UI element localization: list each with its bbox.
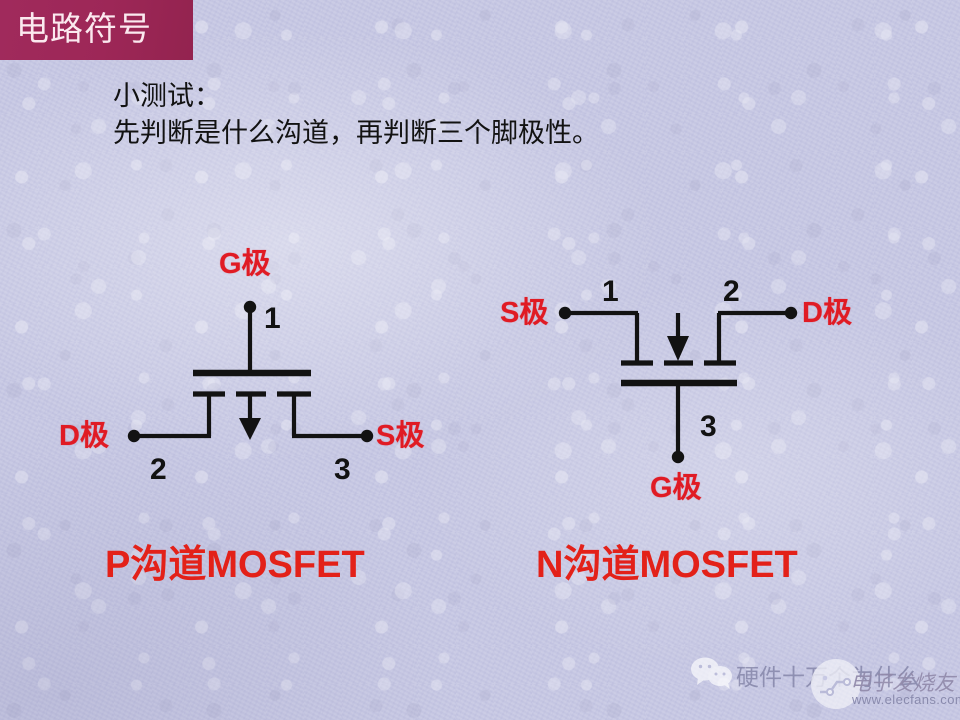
p-drain-pin-number: 2: [150, 455, 167, 485]
p-gate-node-label: G极: [219, 250, 271, 279]
circuit-symbols-layer: [0, 0, 960, 720]
wechat-icon: [690, 656, 734, 690]
n-source-pin-number: 1: [602, 277, 619, 307]
n-channel-caption: N沟道MOSFET: [536, 546, 798, 584]
n-gate-terminal-dot: [672, 451, 684, 463]
p-gate-terminal-dot: [244, 301, 256, 313]
p-source-pin-number: 3: [334, 455, 351, 485]
n-source-terminal-dot: [559, 307, 571, 319]
watermark-brand-url: www.elecfans.com: [852, 692, 960, 707]
p-drain-node-label: D极: [59, 422, 109, 451]
n-body-arrowhead: [667, 336, 689, 361]
p-gate-pin-number: 1: [264, 304, 281, 334]
n-source-node-label: S极: [500, 299, 548, 328]
n-drain-node-label: D极: [802, 299, 852, 328]
p-drain-terminal-dot: [128, 430, 140, 442]
p-body-arrowhead: [239, 418, 261, 440]
slide-canvas: 电路符号 小测试： 先判断是什么沟道，再判断三个脚极性。: [0, 0, 960, 720]
n-gate-pin-number: 3: [700, 412, 717, 442]
p-channel-mosfet-symbol: [128, 301, 373, 442]
n-drain-terminal-dot: [785, 307, 797, 319]
n-drain-pin-number: 2: [723, 277, 740, 307]
p-source-node-label: S极: [376, 422, 424, 451]
watermark: 硬件十万个为什么 电子发烧友 www.elecfans.com: [690, 650, 954, 712]
n-gate-node-label: G极: [650, 474, 702, 503]
p-source-terminal-dot: [361, 430, 373, 442]
n-channel-mosfet-symbol: [559, 307, 797, 463]
p-channel-caption: P沟道MOSFET: [105, 546, 365, 584]
